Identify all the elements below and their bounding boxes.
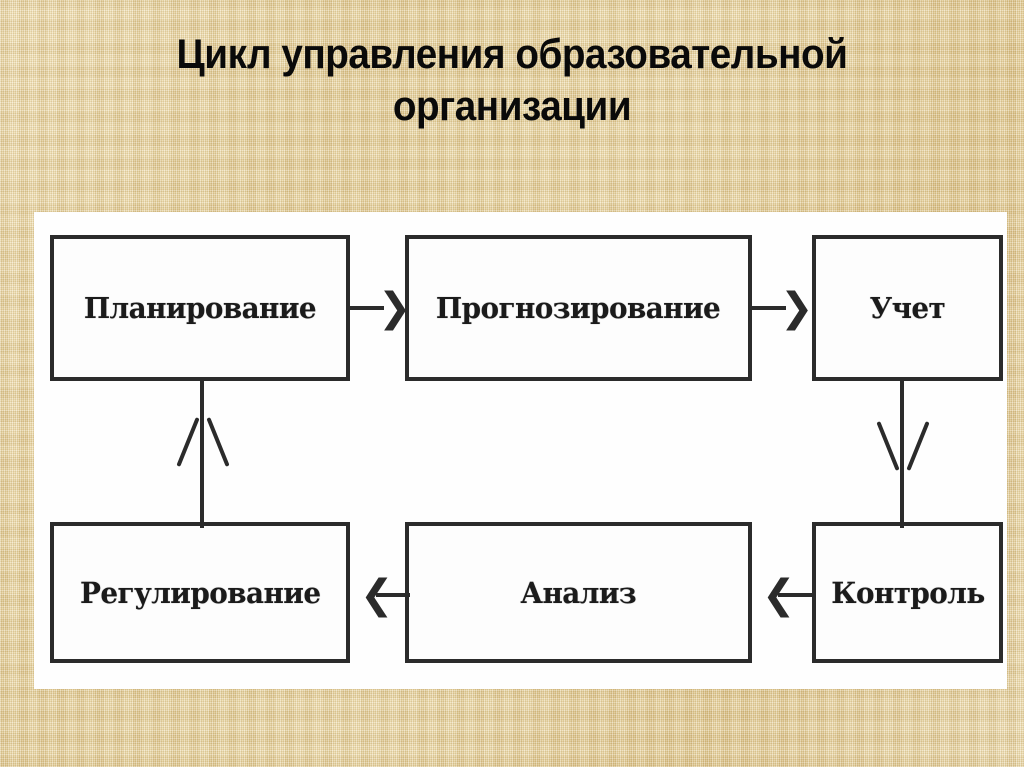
edge-regulation-planning-arrowhead-left (176, 417, 199, 467)
edge-accounting-control-arrowhead-right (906, 421, 929, 471)
diagram-panel: Планирование Прогнозирование Учет Регули… (34, 212, 1007, 689)
node-accounting-label: Учет (870, 291, 946, 325)
edge-control-analysis-arrowhead: ❮ (762, 575, 796, 615)
node-planning[interactable]: Планирование (50, 235, 350, 381)
edge-regulation-planning-line (200, 378, 204, 528)
page-title: Цикл управления образовательнойорганизац… (41, 28, 983, 132)
node-control-label: Контроль (831, 576, 984, 610)
slide-canvas: Цикл управления образовательнойорганизац… (0, 0, 1024, 767)
node-regulation-label: Регулирование (80, 576, 320, 610)
page-title-line-2: организации (41, 80, 983, 132)
node-planning-label: Планирование (84, 291, 316, 325)
node-analysis-label: Анализ (521, 576, 637, 610)
node-accounting[interactable]: Учет (812, 235, 1003, 381)
node-regulation[interactable]: Регулирование (50, 522, 350, 663)
edge-accounting-control-arrowhead-left (876, 421, 899, 471)
node-forecasting-label: Прогнозирование (436, 291, 720, 325)
edge-analysis-regulation-arrowhead: ❮ (360, 575, 394, 615)
node-analysis[interactable]: Анализ (405, 522, 752, 663)
edge-planning-forecasting-arrowhead: ❯ (378, 288, 412, 328)
edge-accounting-control-line (900, 378, 904, 528)
edge-regulation-planning-arrowhead-right (206, 417, 229, 467)
page-title-line-1: Цикл управления образовательной (41, 28, 983, 80)
node-control[interactable]: Контроль (812, 522, 1003, 663)
edge-forecasting-accounting-arrowhead: ❯ (780, 288, 814, 328)
node-forecasting[interactable]: Прогнозирование (405, 235, 752, 381)
